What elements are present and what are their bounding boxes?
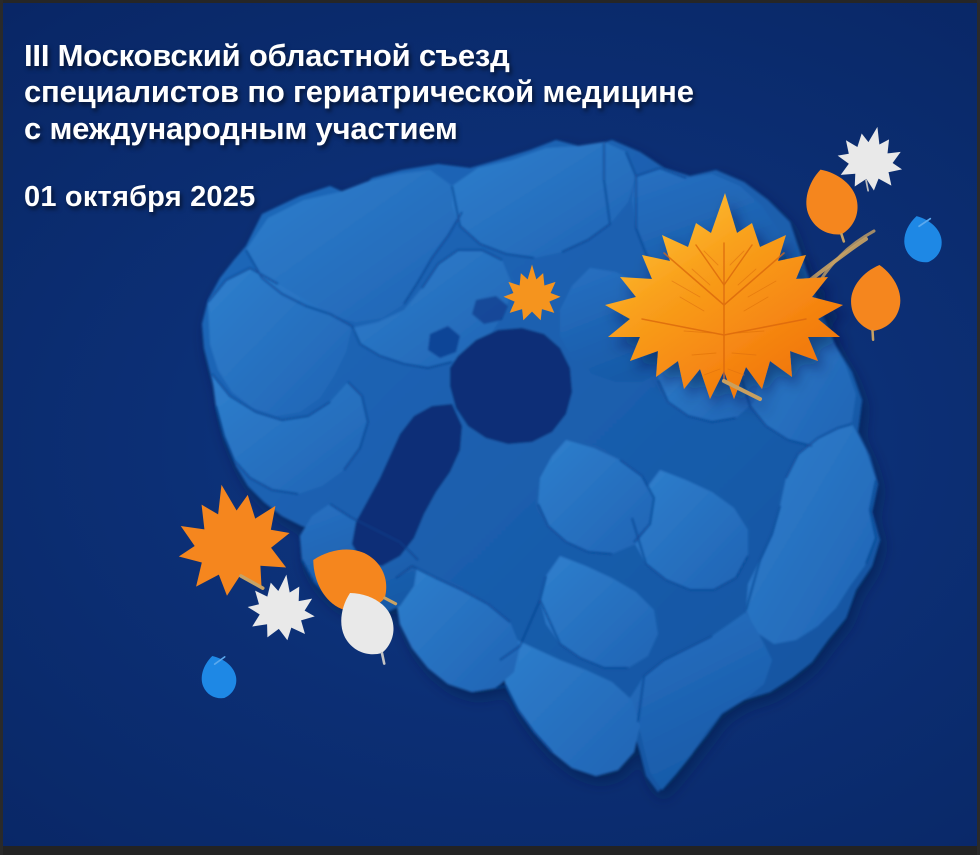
maple-leaf-small-orange-center (500, 262, 564, 324)
birch-leaf-orange-topright-lower (842, 259, 909, 337)
border-top (0, 0, 980, 3)
poster-canvas: III Московский областной съезд специалис… (0, 0, 980, 855)
border-bottom (0, 846, 980, 855)
border-left (0, 0, 3, 855)
